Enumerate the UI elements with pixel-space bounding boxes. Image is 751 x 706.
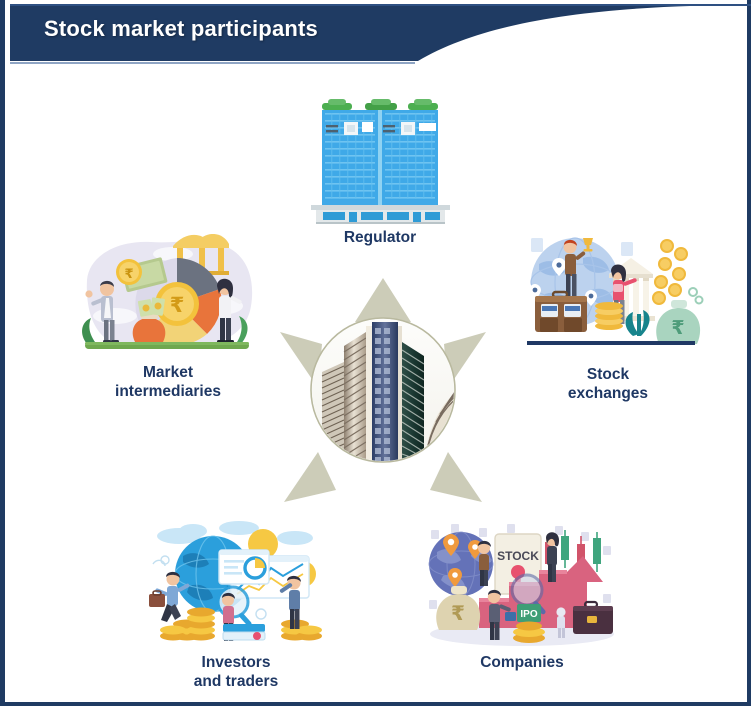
node-label-companies: Companies [417,654,627,673]
svg-text:IPO: IPO [520,609,537,620]
node-companies[interactable]: STOCK [417,516,627,673]
globe-bank-briefcase-money-bag-icon: ₹ [509,228,707,361]
node-regulator[interactable]: Regulator [282,84,478,248]
node-label-exchanges: Stock exchanges [509,366,707,404]
svg-text:₹: ₹ [124,267,133,282]
svg-text:₹: ₹ [170,293,185,317]
node-label-investors: Investors and traders [135,654,337,692]
page-title: Stock market participants [44,16,318,42]
svg-text:₹: ₹ [671,317,684,339]
svg-text:STOCK: STOCK [497,549,539,563]
node-investors-and-traders[interactable]: Investors and traders [135,516,337,692]
svg-text:₹: ₹ [451,601,465,625]
node-label-regulator: Regulator [282,229,478,248]
node-label-intermediaries: Market intermediaries [73,364,263,402]
node-stock-exchanges[interactable]: ₹ [509,228,707,404]
stock-certificate-candlestick-arrow-icon: STOCK [417,516,627,649]
node-market-intermediaries[interactable]: ₹ ₹ [73,234,263,402]
office-tower-building-icon [282,84,478,224]
infographic-frame: Stock market participants [0,0,751,706]
header-divider [10,62,415,64]
hub-stock-exchange [278,276,488,504]
pie-chart-rupee-coins-icon: ₹ ₹ [73,234,263,359]
globe-dashboard-coin-stacks-icon [135,516,337,649]
